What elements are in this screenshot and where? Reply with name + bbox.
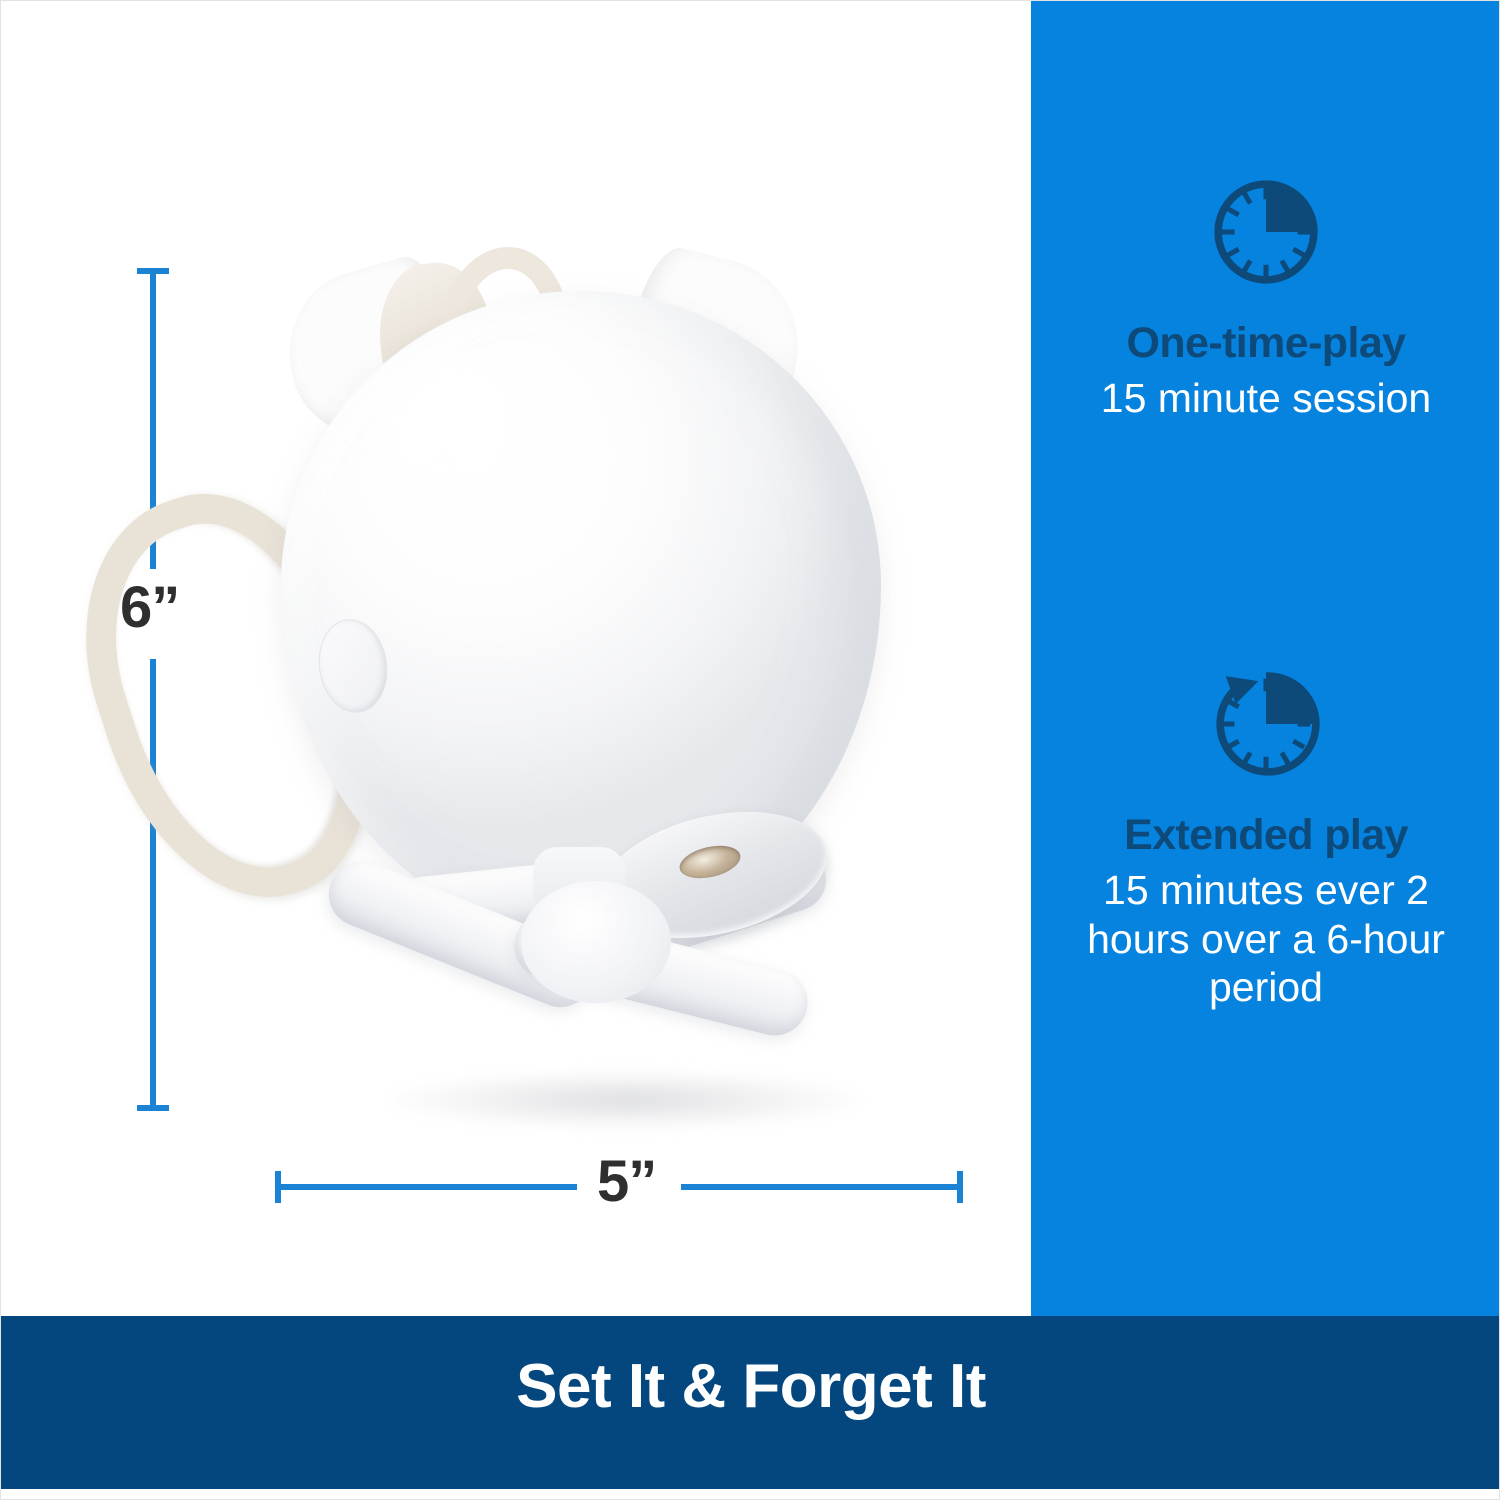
feature-title: One-time-play	[1053, 321, 1479, 366]
feature-panel: One-time-play 15 minute session	[1031, 1, 1500, 1316]
feature-extended-play: Extended play 15 minutes ever 2 hours ov…	[1053, 661, 1479, 1011]
width-dimension-cap-right	[957, 1171, 963, 1203]
width-dimension-line-right	[681, 1184, 963, 1190]
feature-description: 15 minute session	[1053, 374, 1479, 422]
quarter-pie-timer-icon	[1203, 169, 1329, 295]
device-highlight	[359, 349, 579, 539]
feature-one-time-play: One-time-play 15 minute session	[1053, 169, 1479, 423]
product-drop-shadow	[391, 1071, 861, 1129]
product-image-panel: 6” 5”	[1, 1, 1031, 1316]
banner-headline: Set It & Forget It	[516, 1356, 986, 1418]
product-infographic: 6” 5”	[0, 0, 1500, 1500]
stand-hub	[521, 881, 671, 1003]
product-photo	[91, 241, 991, 1141]
width-dimension-line-left	[275, 1184, 577, 1190]
width-dimension-label: 5”	[597, 1153, 656, 1211]
feature-title: Extended play	[1053, 813, 1479, 858]
feature-description: 15 minutes ever 2 hours over a 6-hour pe…	[1053, 866, 1479, 1011]
bottom-banner: Set It & Forget It	[1, 1316, 1500, 1489]
repeat-quarter-pie-timer-icon	[1203, 661, 1329, 787]
